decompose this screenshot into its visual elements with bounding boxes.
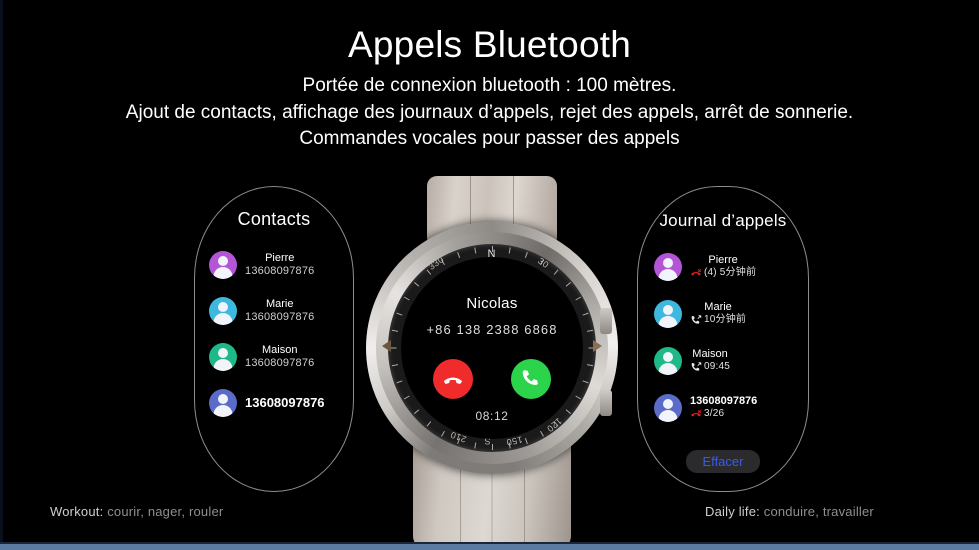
caption-daily-life: Daily life: conduire, travailler: [705, 504, 874, 519]
contacts-list: Pierre 13608097876 Marie 13608097876: [195, 242, 353, 426]
contact-number: 13608097876: [245, 265, 315, 278]
bezel-tick: [474, 442, 476, 448]
avatar: [209, 343, 237, 371]
subtitle-line-1: Portée de connexion bluetooth : 100 mètr…: [0, 73, 979, 100]
bezel-tick: [525, 252, 528, 258]
bezel-tick: [525, 438, 528, 444]
avatar: [654, 347, 682, 375]
clear-button-wrap: Effacer: [638, 450, 808, 473]
caller-name: Nicolas: [401, 295, 583, 312]
avatar: [209, 297, 237, 325]
call-log-detail: (4) 5分钟前: [704, 267, 756, 279]
bezel-tick: [583, 313, 589, 316]
call-log-panel-title: Journal d’appels: [638, 211, 808, 231]
call-log-name: Marie: [690, 301, 746, 314]
avatar: [654, 253, 682, 281]
incoming-call-icon: [690, 314, 702, 326]
bezel-tick: [392, 330, 398, 332]
missed-call-icon: [690, 408, 702, 420]
watch-button-top-right[interactable]: [600, 308, 612, 334]
contact-number: 13608097876: [245, 311, 315, 324]
watch-button-bottom-right[interactable]: [600, 390, 612, 416]
clear-call-log-button[interactable]: Effacer: [686, 450, 761, 473]
subtitle-line-2: Ajout de contacts, affichage des journau…: [0, 100, 979, 127]
watch-clock: 08:12: [401, 409, 583, 423]
bezel-tick: [492, 246, 493, 252]
list-item[interactable]: 13608097876 3/26: [638, 384, 808, 431]
page-title: Appels Bluetooth: [0, 24, 979, 67]
caption-workout-value: courir, nager, rouler: [107, 504, 223, 519]
bezel-tick: [474, 247, 476, 253]
bezel-tick: [583, 380, 589, 383]
avatar: [209, 251, 237, 279]
bezel-tick: [414, 282, 419, 287]
slide-canvas: Appels Bluetooth Portée de connexion blu…: [0, 0, 979, 550]
bezel-tick: [540, 431, 544, 437]
avatar: [654, 300, 682, 328]
contacts-panel-title: Contacts: [195, 209, 353, 230]
call-log-name: Maison: [690, 348, 730, 361]
header: Appels Bluetooth Portée de connexion blu…: [0, 24, 979, 153]
call-log-detail-row: 10分钟前: [690, 314, 746, 326]
subtitle-line-3: Commandes vocales pour passer des appels: [0, 126, 979, 153]
contact-number: 13608097876: [245, 357, 315, 370]
call-log-detail: 10分钟前: [704, 314, 746, 326]
bezel-tick: [396, 313, 402, 316]
decline-call-button[interactable]: [433, 359, 473, 399]
bezel-tick: [392, 364, 398, 366]
bezel-marker-left-icon: [382, 340, 391, 352]
bezel-tick: [391, 348, 397, 349]
bottom-bar: [0, 544, 979, 550]
bezel-marker-right-icon: [593, 340, 602, 352]
contacts-panel: Contacts Pierre 13608097876 Marie 136080…: [194, 186, 354, 492]
watch-case: N 30 330 120 150 S 210 Nicolas +86 138 2…: [366, 222, 618, 474]
caption-workout-key: Workout:: [50, 504, 103, 519]
bezel-tick: [509, 247, 511, 253]
bezel-tick: [441, 431, 445, 437]
call-log-name: 13608097876: [690, 395, 757, 408]
list-item[interactable]: Pierre (4) 5分钟前: [638, 243, 808, 290]
call-log-panel: Journal d’appels Pierre (4: [637, 186, 809, 492]
incoming-call-icon: [690, 361, 702, 373]
contact-name: Maison: [245, 344, 315, 357]
avatar: [654, 394, 682, 422]
bezel-tick: [587, 330, 593, 332]
call-log-detail-row: 3/26: [690, 408, 757, 420]
caller-number: +86 138 2388 6868: [401, 322, 583, 337]
bezel-tick: [587, 364, 593, 366]
call-log-detail-row: (4) 5分钟前: [690, 267, 756, 279]
watch-screen: Nicolas +86 138 2388 6868: [401, 257, 583, 439]
bezel-tick: [492, 444, 493, 450]
contact-name: 13608097876: [245, 395, 325, 411]
list-item[interactable]: Pierre 13608097876: [195, 242, 353, 288]
smartwatch: N 30 330 120 150 S 210 Nicolas +86 138 2…: [352, 176, 632, 550]
contact-name: Pierre: [245, 252, 315, 265]
bezel-tick: [457, 252, 460, 258]
list-item[interactable]: 13608097876: [195, 380, 353, 426]
bezel-tick: [566, 282, 571, 287]
call-log-detail: 09:45: [704, 361, 730, 373]
call-actions: [401, 359, 583, 399]
list-item[interactable]: Marie 10分钟前: [638, 290, 808, 337]
list-item[interactable]: Marie 13608097876: [195, 288, 353, 334]
list-item[interactable]: Maison 13608097876: [195, 334, 353, 380]
missed-call-icon: [690, 267, 702, 279]
call-log-detail: 3/26: [704, 408, 724, 420]
caption-daily-value: conduire, travailler: [764, 504, 874, 519]
call-log-detail-row: 09:45: [690, 361, 730, 373]
bezel-tick: [554, 270, 559, 275]
list-item[interactable]: Maison 09:45: [638, 337, 808, 384]
caption-daily-key: Daily life:: [705, 504, 760, 519]
caption-workout: Workout: courir, nager, rouler: [50, 504, 223, 519]
call-log-name: Pierre: [690, 254, 756, 267]
contact-name: Marie: [245, 298, 315, 311]
call-log-list: Pierre (4) 5分钟前: [638, 243, 808, 431]
accept-call-button[interactable]: [511, 359, 551, 399]
avatar: [209, 389, 237, 417]
